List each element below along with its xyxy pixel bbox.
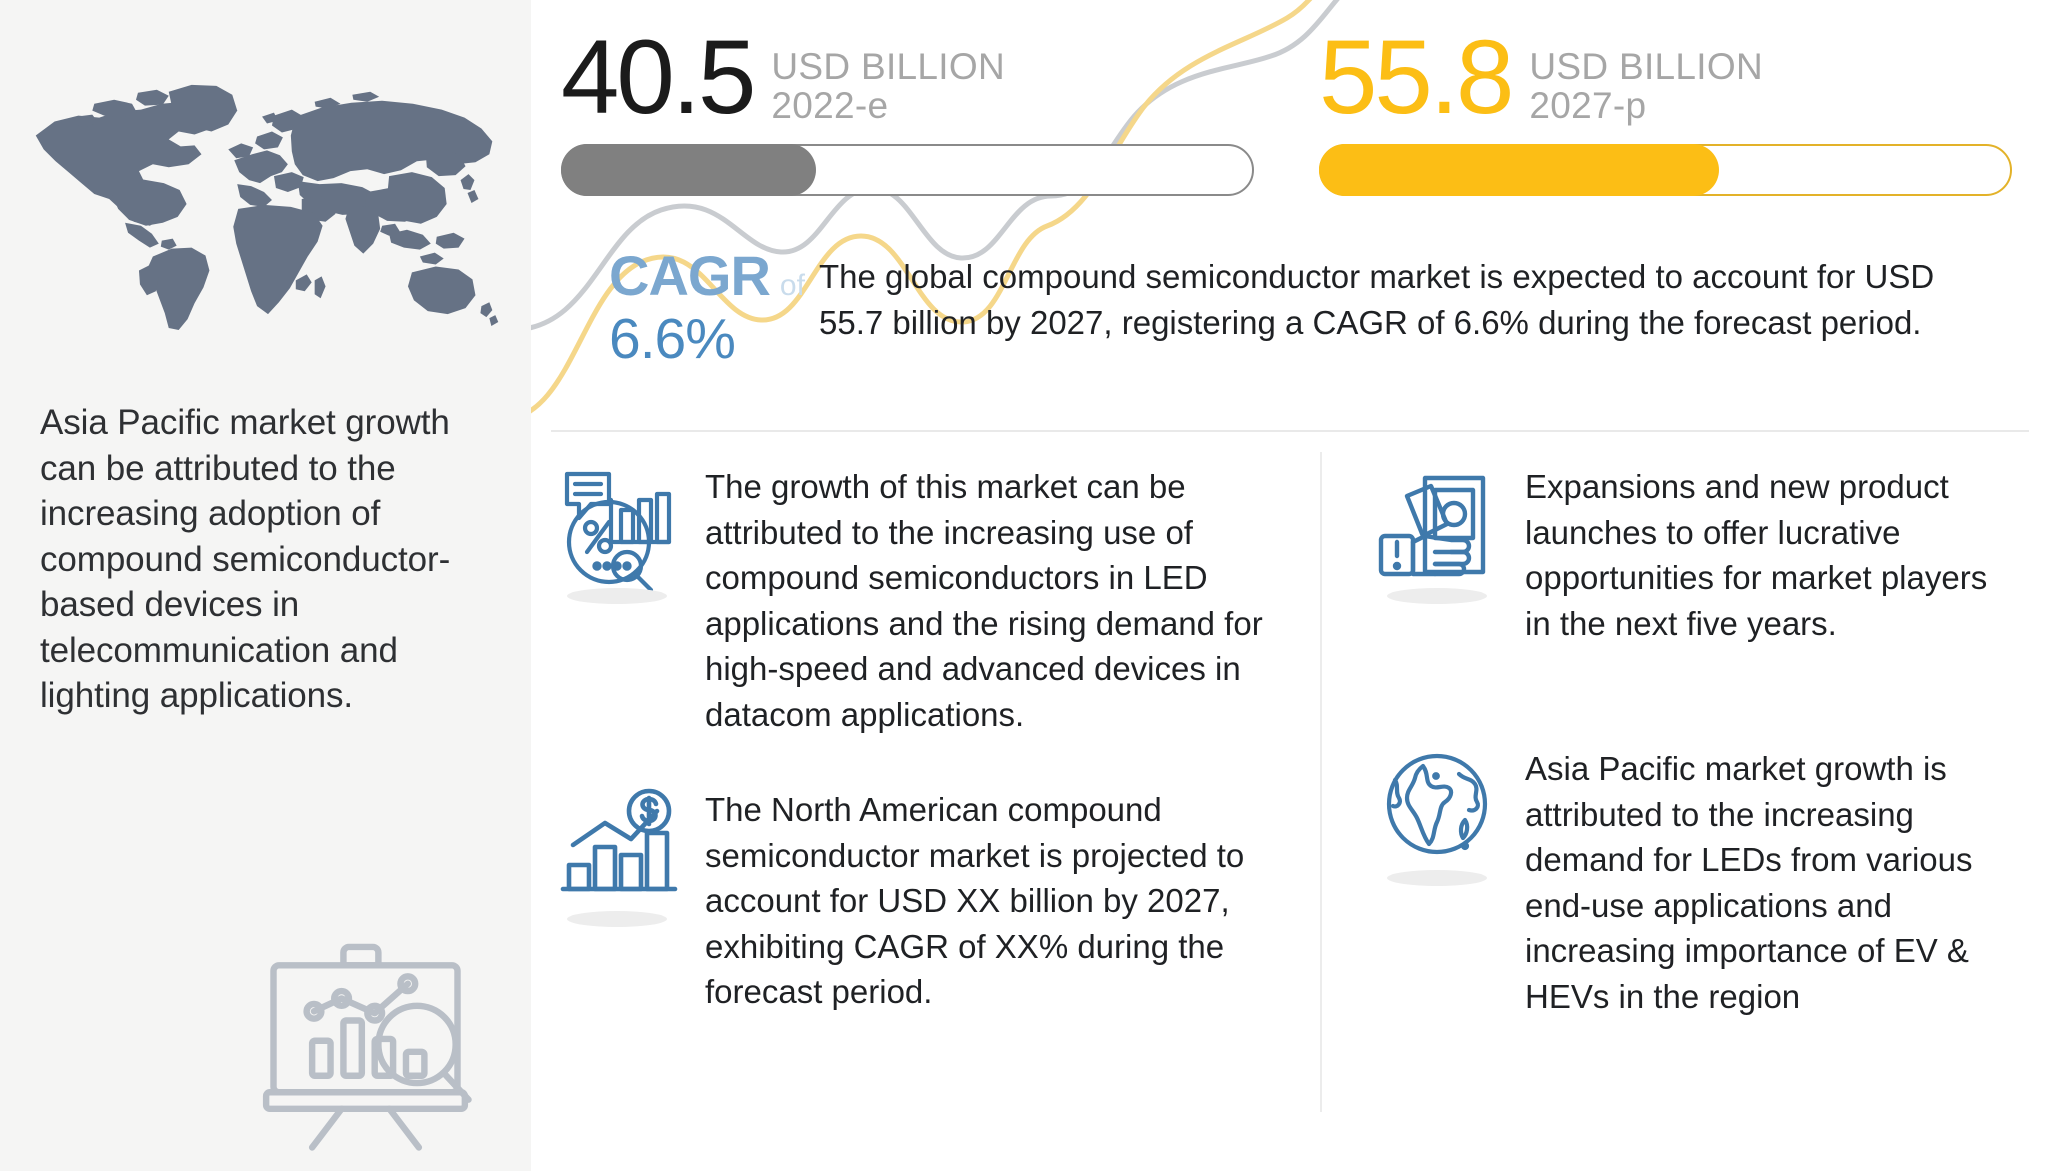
stat-value-2027: 55.8: [1319, 30, 1511, 127]
market-analysis-pie-bar-icon: [553, 460, 683, 610]
bullet-text: The North American compound semiconducto…: [705, 783, 1281, 1015]
bullet-item: Asia Pacific market growth is attributed…: [1373, 742, 2018, 1019]
bullet-text: The growth of this market can be attribu…: [705, 460, 1281, 737]
cagr-value: 6.6%: [609, 308, 819, 371]
bullets-column-right: Expansions and new product launches to o…: [1321, 452, 2048, 1142]
stat-period-2027: 2027-p: [1529, 85, 1763, 128]
stat-card-2027: 55.8 USD BILLION 2027-p: [1289, 0, 2047, 230]
horizontal-divider: [551, 430, 2029, 432]
stat-unit-2022: USD BILLION: [771, 48, 1005, 85]
icon-shadow: [1387, 588, 1487, 604]
main-content: 40.5 USD BILLION 2022-e 55.8 USD BILLION…: [531, 0, 2048, 1171]
bullets-section: The growth of this market can be attribu…: [531, 452, 2048, 1142]
bullet-item: Expansions and new product launches to o…: [1373, 460, 2018, 646]
progress-bar-fill-2027: [1319, 144, 1719, 196]
bullet-text: Asia Pacific market growth is attributed…: [1525, 742, 2018, 1019]
progress-bar-fill-2022: [561, 144, 816, 196]
stats-row: 40.5 USD BILLION 2022-e 55.8 USD BILLION…: [531, 0, 2048, 230]
sidebar-body-text: Asia Pacific market growth can be attrib…: [40, 400, 500, 719]
bullet-text: Expansions and new product launches to o…: [1525, 460, 2018, 646]
stat-unit-2027: USD BILLION: [1529, 48, 1763, 85]
sidebar: Asia Pacific market growth can be attrib…: [0, 0, 531, 1171]
cagr-of-label: of: [780, 271, 805, 301]
bullet-item: The North American compound semiconducto…: [553, 783, 1281, 1015]
hand-holding-cash-icon: [1373, 460, 1503, 610]
cagr-description: The global compound semiconductor market…: [819, 248, 2048, 345]
bullet-item: The growth of this market can be attribu…: [553, 460, 1281, 737]
stat-period-2022: 2022-e: [771, 85, 1005, 128]
cagr-section: CAGR of 6.6% The global compound semicon…: [531, 248, 2048, 371]
bullets-column-middle: The growth of this market can be attribu…: [531, 452, 1321, 1142]
stat-card-2022: 40.5 USD BILLION 2022-e: [531, 0, 1289, 230]
presentation-chart-magnifier-icon: [243, 923, 488, 1153]
growth-bar-chart-dollar-icon: [553, 783, 683, 933]
cagr-label: CAGR: [609, 248, 770, 304]
icon-shadow: [567, 588, 667, 604]
globe-icon: [1373, 742, 1503, 892]
progress-bar-2027: [1319, 144, 2012, 196]
world-map-icon: [18, 62, 518, 330]
stat-value-2022: 40.5: [561, 30, 753, 127]
infographic-page: Asia Pacific market growth can be attrib…: [0, 0, 2048, 1171]
progress-bar-2022: [561, 144, 1254, 196]
cagr-box: CAGR of 6.6%: [531, 248, 819, 371]
